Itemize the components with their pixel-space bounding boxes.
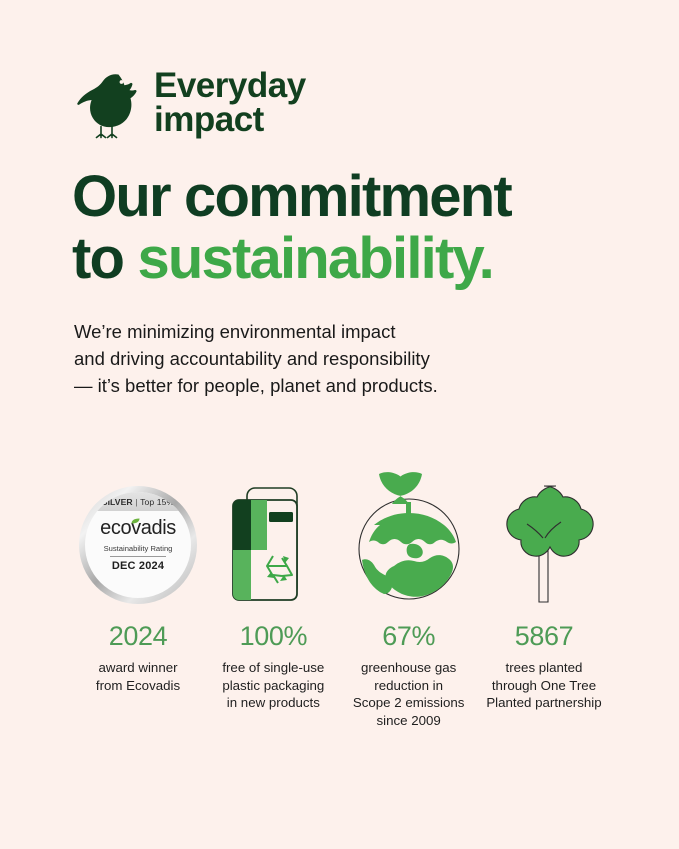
sustainability-infographic: Everyday impact Our commitment to sustai… <box>0 0 679 849</box>
stat-caption-line: Scope 2 emissions <box>353 694 465 712</box>
intro-line-3: — it’s better for people, planet and pro… <box>74 372 554 399</box>
stat-item: 100% free of single-use plastic packagin… <box>209 462 337 712</box>
stat-item: SILVER | Top 15% ecovadis Sustainability… <box>74 462 202 694</box>
headline-line1: Our commitment <box>72 164 511 229</box>
recyclable-packaging-icon <box>225 462 321 604</box>
brand-name-line2: impact <box>154 103 306 137</box>
medal-date: DEC 2024 <box>112 560 164 572</box>
globe-sprout-icon <box>350 462 468 604</box>
stat-value: 100% <box>240 623 307 650</box>
earth-plant-icon <box>350 466 468 604</box>
medal-subtitle: Sustainability Rating <box>104 544 173 553</box>
leaf-icon <box>131 518 140 524</box>
bird-icon <box>74 66 140 140</box>
carton-icon <box>225 484 321 604</box>
medal-separator: | <box>135 497 137 507</box>
intro-paragraph: We’re minimizing environmental impact an… <box>74 318 554 400</box>
stat-caption-line: from Ecovadis <box>96 677 180 695</box>
stat-caption-line: plastic packaging <box>222 677 324 695</box>
medal-face: SILVER | Top 15% ecovadis Sustainability… <box>85 492 191 598</box>
page-title: Our commitment to sustainability. <box>72 166 632 290</box>
stat-caption-line: since 2009 <box>353 712 465 730</box>
brand-logo: Everyday impact <box>74 66 306 140</box>
ecovadis-medal: SILVER | Top 15% ecovadis Sustainability… <box>79 486 197 604</box>
headline-accent: sustainability. <box>137 226 492 291</box>
stat-value: 67% <box>382 623 435 650</box>
stat-caption-line: trees planted <box>486 659 601 677</box>
stat-caption-line: through One Tree <box>486 677 601 695</box>
tree-icon <box>491 462 597 604</box>
stat-item: 67% greenhouse gas reduction in Scope 2 … <box>345 462 473 730</box>
intro-line-2: and driving accountability and responsib… <box>74 345 554 372</box>
intro-line-1: We’re minimizing environmental impact <box>74 318 554 345</box>
stat-caption: award winner from Ecovadis <box>96 659 180 694</box>
stat-caption: free of single-use plastic packaging in … <box>222 659 324 712</box>
stat-caption-line: greenhouse gas <box>353 659 465 677</box>
stats-row: SILVER | Top 15% ecovadis Sustainability… <box>74 462 608 730</box>
stat-item: 5867 trees planted through One Tree Plan… <box>480 462 608 712</box>
ecovadis-wordmark: ecovadis <box>100 517 176 540</box>
headline-line2-prefix: to <box>72 226 137 291</box>
stat-caption-line: Planted partnership <box>486 694 601 712</box>
stat-caption-line: reduction in <box>353 677 465 695</box>
stat-value: 2024 <box>109 623 167 650</box>
medal-divider <box>110 556 166 557</box>
brand-wordmark: Everyday impact <box>154 69 306 137</box>
stat-caption: trees planted through One Tree Planted p… <box>486 659 601 712</box>
stat-caption: greenhouse gas reduction in Scope 2 emis… <box>353 659 465 730</box>
stat-caption-line: in new products <box>222 694 324 712</box>
stat-caption-line: free of single-use <box>222 659 324 677</box>
ecovadis-badge-icon: SILVER | Top 15% ecovadis Sustainability… <box>79 462 197 604</box>
stat-caption-line: award winner <box>96 659 180 677</box>
stat-value: 5867 <box>515 623 573 650</box>
tree-graphic <box>491 476 597 604</box>
